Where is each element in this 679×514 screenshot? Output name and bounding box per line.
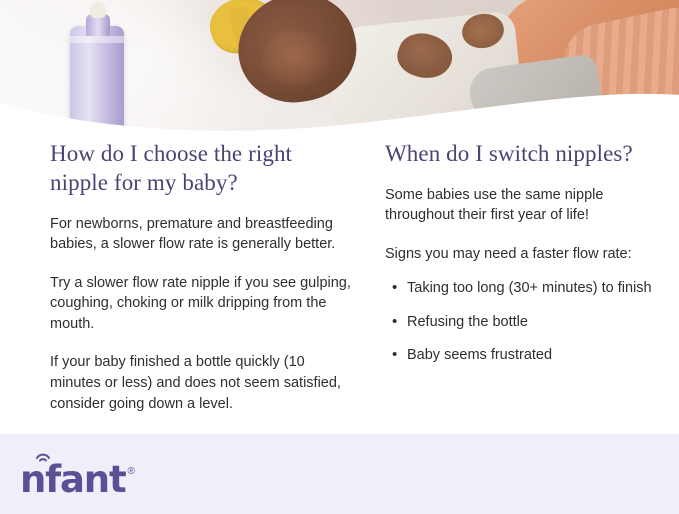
- brand-logo: nfant ®: [20, 462, 135, 497]
- wifi-signal-icon: [35, 449, 51, 463]
- bottle-collar: [70, 36, 124, 43]
- list-item: Taking too long (30+ minutes) to finish: [407, 278, 665, 298]
- list-item: Refusing the bottle: [407, 312, 665, 332]
- left-column-heading: How do I choose the right nipple for my …: [50, 140, 355, 198]
- right-column: When do I switch nipples? Some babies us…: [385, 140, 665, 378]
- content-area: How do I choose the right nipple for my …: [0, 140, 679, 434]
- hero-photo-banner: [0, 0, 679, 135]
- footer-bar: nfant ®: [0, 434, 679, 514]
- left-paragraph-2: Try a slower flow rate nipple if you see…: [50, 273, 355, 335]
- wave-divider: [0, 81, 679, 135]
- right-paragraph-1: Some babies use the same nipple througho…: [385, 185, 665, 226]
- baby-face: [262, 30, 332, 88]
- left-paragraph-1: For newborns, premature and breastfeedin…: [50, 214, 355, 255]
- page: How do I choose the right nipple for my …: [0, 0, 679, 514]
- right-paragraph-2: Signs you may need a faster flow rate:: [385, 244, 665, 265]
- bottle-nipple: [90, 2, 106, 18]
- right-column-heading: When do I switch nipples?: [385, 140, 665, 169]
- signs-list: Taking too long (30+ minutes) to finish …: [385, 278, 665, 365]
- list-item: Baby seems frustrated: [407, 345, 665, 365]
- left-column: How do I choose the right nipple for my …: [50, 140, 355, 432]
- brand-name: nfant: [20, 462, 125, 497]
- left-paragraph-3: If your baby finished a bottle quickly (…: [50, 352, 355, 414]
- registered-trademark: ®: [127, 466, 134, 477]
